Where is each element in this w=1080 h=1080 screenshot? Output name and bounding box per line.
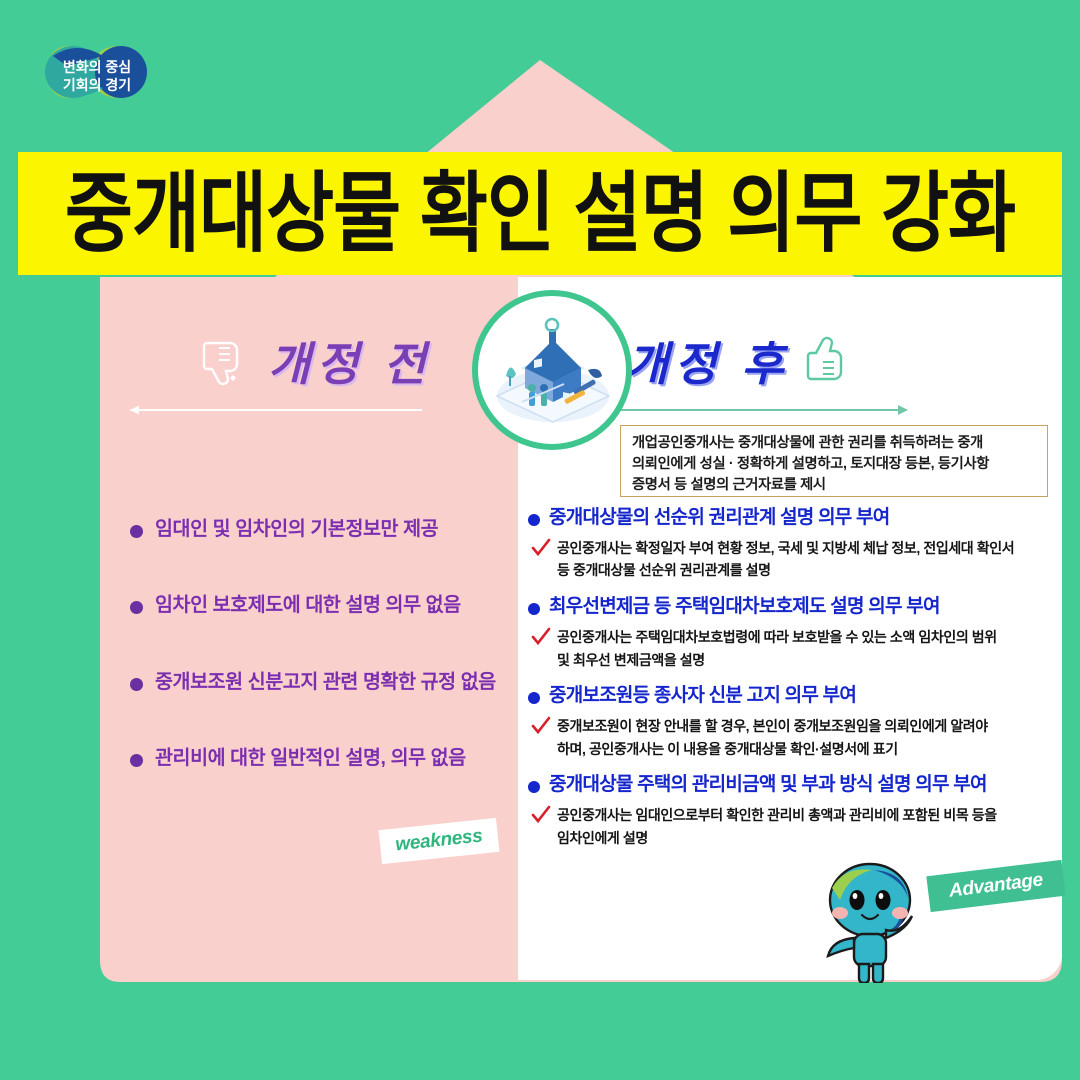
after-item-detail: 중개보조원이 현장 안내를 할 경우, 본인이 중개보조원임을 의뢰인에게 알려… xyxy=(557,715,988,760)
before-item-text: 관리비에 대한 일반적인 설명, 의무 없음 xyxy=(155,746,466,770)
after-item-list: 중개대상물의 선순위 권리관계 설명 의무 부여 공인중개사는 확정일자 부여 … xyxy=(528,507,1062,864)
list-item: 임차인 보호제도에 대한 설명 의무 없음 xyxy=(130,593,520,617)
check-icon xyxy=(531,627,551,647)
after-item-detail: 공인중개사는 임대인으로부터 확인한 관리비 총액과 관리비에 포함된 비목 등… xyxy=(557,804,997,849)
check-icon xyxy=(531,805,551,825)
list-item: 중개대상물의 선순위 권리관계 설명 의무 부여 공인중개사는 확정일자 부여 … xyxy=(528,507,1062,582)
gyeonggi-province-logo: 변화의 중심 기회의 경기 xyxy=(33,32,161,112)
thumbs-up-icon xyxy=(804,335,856,387)
before-arrow-divider xyxy=(122,403,422,417)
after-item-title: 최우선변제금 등 주택임대차보호제도 설명 의무 부여 xyxy=(549,596,940,619)
after-item-title: 중개보조원등 종사자 신분 고지 의무 부여 xyxy=(549,685,856,708)
bullet-dot-icon xyxy=(130,754,143,767)
weakness-badge-label: weakness xyxy=(394,825,483,856)
list-item: 관리비에 대한 일반적인 설명, 의무 없음 xyxy=(130,746,520,770)
list-item: 임대인 및 임차인의 기본정보만 제공 xyxy=(130,517,520,541)
bullet-dot-icon xyxy=(130,525,143,538)
after-item-detail: 공인중개사는 확정일자 부여 현황 정보, 국세 및 지방세 체납 정보, 전입… xyxy=(557,537,1014,582)
before-label: 개정 전 xyxy=(268,328,432,394)
house-on-tablet-illustration xyxy=(472,290,632,450)
after-label: 개정 후 xyxy=(626,328,790,394)
before-item-list: 임대인 및 임차인의 기본정보만 제공 임차인 보호제도에 대한 설명 의무 없… xyxy=(130,517,520,823)
title-banner: 중개대상물 확인 설명 의무 강화 xyxy=(18,152,1062,275)
after-item-title: 중개대상물의 선순위 권리관계 설명 의무 부여 xyxy=(549,507,890,530)
before-header: 개정 전 xyxy=(100,319,518,439)
page-title: 중개대상물 확인 설명 의무 강화 xyxy=(65,170,1015,257)
bullet-dot-icon xyxy=(528,514,540,526)
bullet-dot-icon xyxy=(528,603,540,615)
bullet-dot-icon xyxy=(528,781,540,793)
before-item-text: 임차인 보호제도에 대한 설명 의무 없음 xyxy=(155,593,461,617)
after-item-detail: 공인중개사는 주택임대차보호법령에 따라 보호받을 수 있는 소액 임차인의 범… xyxy=(557,626,997,671)
bullet-dot-icon xyxy=(130,601,143,614)
bullet-dot-icon xyxy=(130,678,143,691)
advantage-badge-label: Advantage xyxy=(948,869,1044,902)
thumbs-down-icon xyxy=(200,335,252,387)
list-item: 중개보조원등 종사자 신분 고지 의무 부여 중개보조원이 현장 안내를 할 경… xyxy=(528,685,1062,760)
after-description-box: 개업공인중개사는 중개대상물에 관한 권리를 취득하려는 중개 의뢰인에게 성실… xyxy=(620,425,1048,497)
check-icon xyxy=(531,538,551,558)
list-item: 중개보조원 신분고지 관련 명확한 규정 없음 xyxy=(130,670,520,694)
check-icon xyxy=(531,716,551,736)
bullet-dot-icon xyxy=(528,692,540,704)
gyeonggi-mascot-character xyxy=(810,858,930,983)
before-panel: 개정 전 임대인 및 임차인의 기본정보만 제공 임차인 보호제도에 대한 설명… xyxy=(100,277,518,980)
after-item-title: 중개대상물 주택의 관리비금액 및 부과 방식 설명 의무 부여 xyxy=(549,774,987,797)
logo-line-2: 기회의 경기 xyxy=(63,77,131,93)
before-item-text: 임대인 및 임차인의 기본정보만 제공 xyxy=(155,517,438,541)
before-item-text: 중개보조원 신분고지 관련 명확한 규정 없음 xyxy=(155,670,496,694)
after-description-text: 개업공인중개사는 중개대상물에 관한 권리를 취득하려는 중개 의뢰인에게 성실… xyxy=(632,433,1038,496)
list-item: 최우선변제금 등 주택임대차보호제도 설명 의무 부여 공인중개사는 주택임대차… xyxy=(528,596,1062,671)
list-item: 중개대상물 주택의 관리비금액 및 부과 방식 설명 의무 부여 공인중개사는 … xyxy=(528,774,1062,849)
infographic-canvas: 변화의 중심 기회의 경기 중개대상물 확인 설명 의무 강화 개정 전 xyxy=(0,0,1080,1080)
logo-line-1: 변화의 중심 xyxy=(63,59,131,75)
